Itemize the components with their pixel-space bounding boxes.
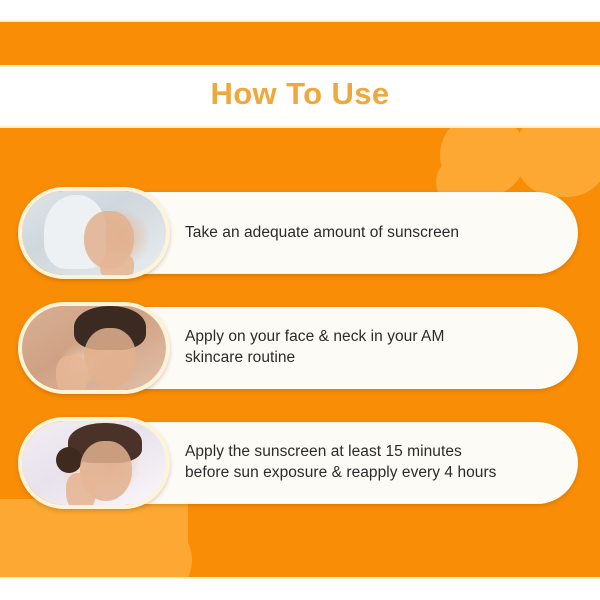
step-card-1[interactable]: Take an adequate amount of sunscreen [22, 192, 578, 274]
band-divider-title-bottom [0, 126, 600, 128]
woman-applying-cream-to-face-image [22, 306, 166, 390]
page-title: How To Use [0, 76, 600, 112]
band-divider-top [0, 20, 600, 22]
woman-applying-sunscreen-with-towel-on-head-image [22, 191, 166, 275]
step-2-line-1: Apply on your face & neck in your AM [185, 327, 444, 348]
step-3-text: Apply the sunscreen at least 15 minutes … [185, 442, 522, 483]
how-to-use-infographic: How To Use Take an adequate amount of su… [0, 0, 600, 600]
band-divider-title-top [0, 65, 600, 67]
hand-shape [56, 356, 88, 394]
step-3-line-2: before sun exposure & reapply every 4 ho… [185, 463, 496, 484]
step-card-3[interactable]: Apply the sunscreen at least 15 minutes … [22, 422, 578, 504]
step-2-text: Apply on your face & neck in your AM ski… [185, 327, 470, 368]
face-shape [84, 328, 136, 388]
hand-shape [100, 253, 134, 279]
step-1-text: Take an adequate amount of sunscreen [185, 223, 485, 244]
smiling-woman-touching-cheek-image [22, 421, 166, 505]
step-card-2[interactable]: Apply on your face & neck in your AM ski… [22, 307, 578, 389]
step-2-thumbnail [18, 302, 170, 394]
hand-shape [66, 473, 96, 509]
hair-bun-shape [56, 447, 82, 473]
step-3-thumbnail [18, 417, 170, 509]
step-2-line-2: skincare routine [185, 348, 444, 369]
band-divider-bottom [0, 577, 600, 579]
step-3-line-1: Apply the sunscreen at least 15 minutes [185, 442, 496, 463]
step-1-thumbnail [18, 187, 170, 279]
step-1-line-1: Take an adequate amount of sunscreen [185, 223, 459, 244]
